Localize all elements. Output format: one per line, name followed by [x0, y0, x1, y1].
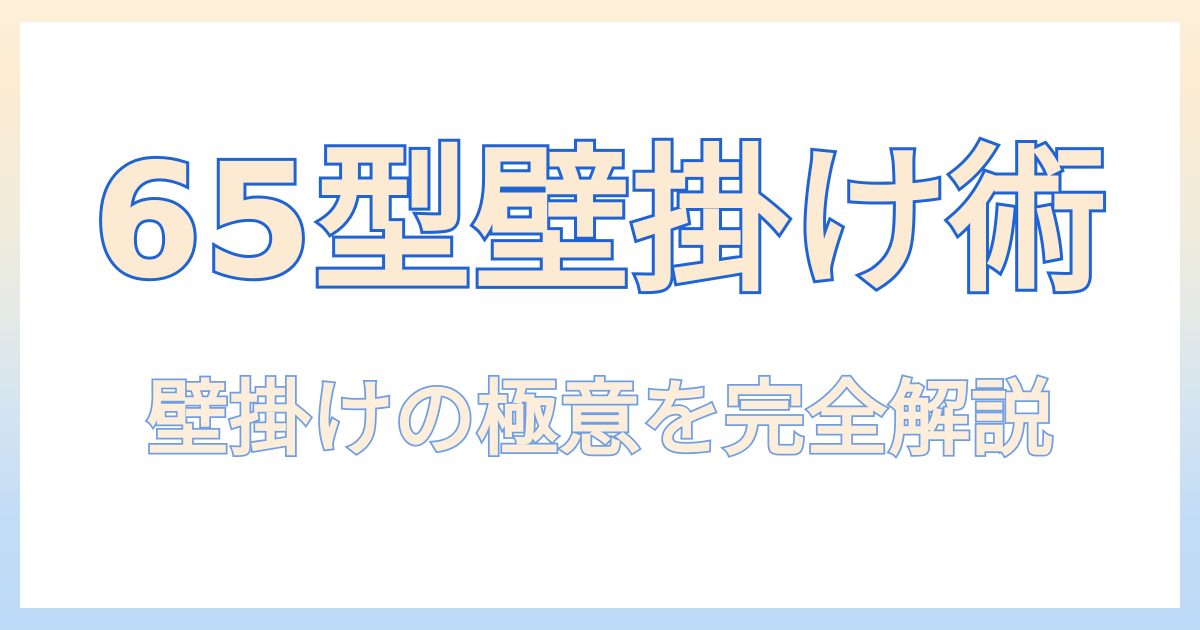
page-subtitle: 壁掛けの極意を完全解説 壁掛けの極意を完全解説: [147, 377, 1054, 463]
title-block: 65型壁掛け術 65型壁掛け術: [20, 140, 1180, 306]
og-card: 65型壁掛け術 65型壁掛け術 壁掛けの極意を完全解説 壁掛けの極意を完全解説: [0, 0, 1200, 630]
page-title: 65型壁掛け術 65型壁掛け術: [92, 140, 1107, 306]
subtitle-block: 壁掛けの極意を完全解説 壁掛けの極意を完全解説: [20, 377, 1180, 463]
page-title-fill: 65型壁掛け術: [92, 140, 1107, 306]
page-subtitle-fill: 壁掛けの極意を完全解説: [147, 377, 1054, 463]
card-canvas: 65型壁掛け術 65型壁掛け術 壁掛けの極意を完全解説 壁掛けの極意を完全解説: [20, 22, 1180, 608]
